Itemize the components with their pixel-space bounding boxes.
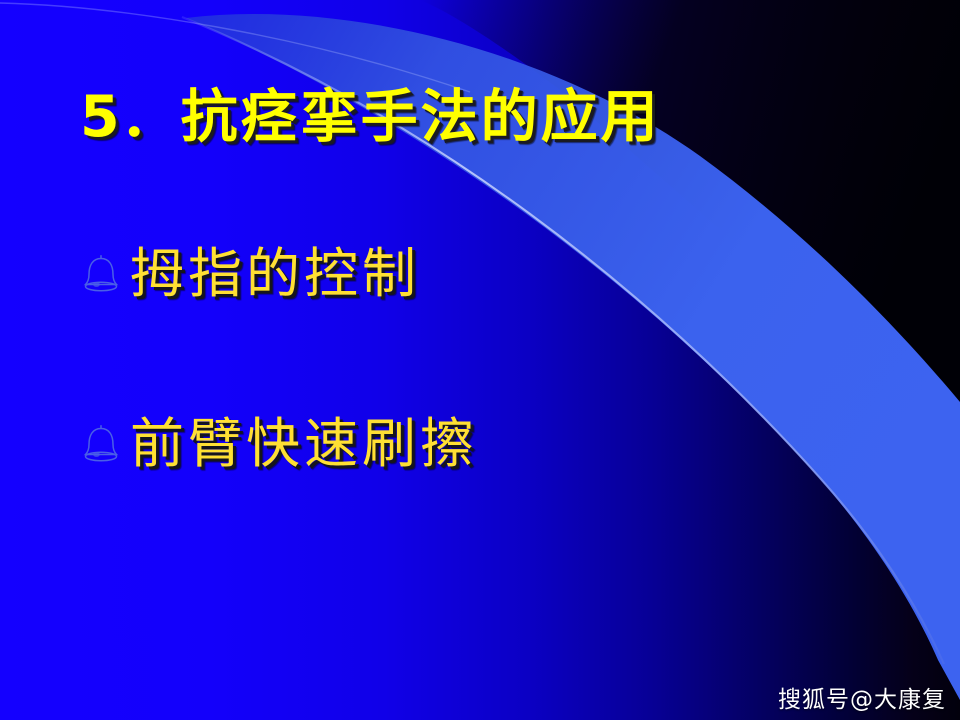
bell-icon (82, 253, 120, 295)
bullet-list: 拇指的控制 前臂快速刷擦 (82, 232, 782, 572)
list-item-label: 拇指的控制 (130, 247, 420, 301)
title-text: 抗痉挛手法的应用 (181, 88, 661, 148)
bell-icon (82, 423, 120, 465)
watermark: 搜狐号@大康复 (778, 689, 946, 712)
slide-canvas: 5． 抗痉挛手法的应用 拇指的控制 前臂快速刷擦 搜狐号@大康复 (0, 0, 960, 720)
page-title: 5． 抗痉挛手法的应用 (80, 88, 661, 148)
list-item[interactable]: 拇指的控制 (82, 232, 782, 316)
list-item-label: 前臂快速刷擦 (130, 417, 478, 471)
list-item[interactable]: 前臂快速刷擦 (82, 402, 782, 486)
title-number: 5． (80, 88, 179, 148)
